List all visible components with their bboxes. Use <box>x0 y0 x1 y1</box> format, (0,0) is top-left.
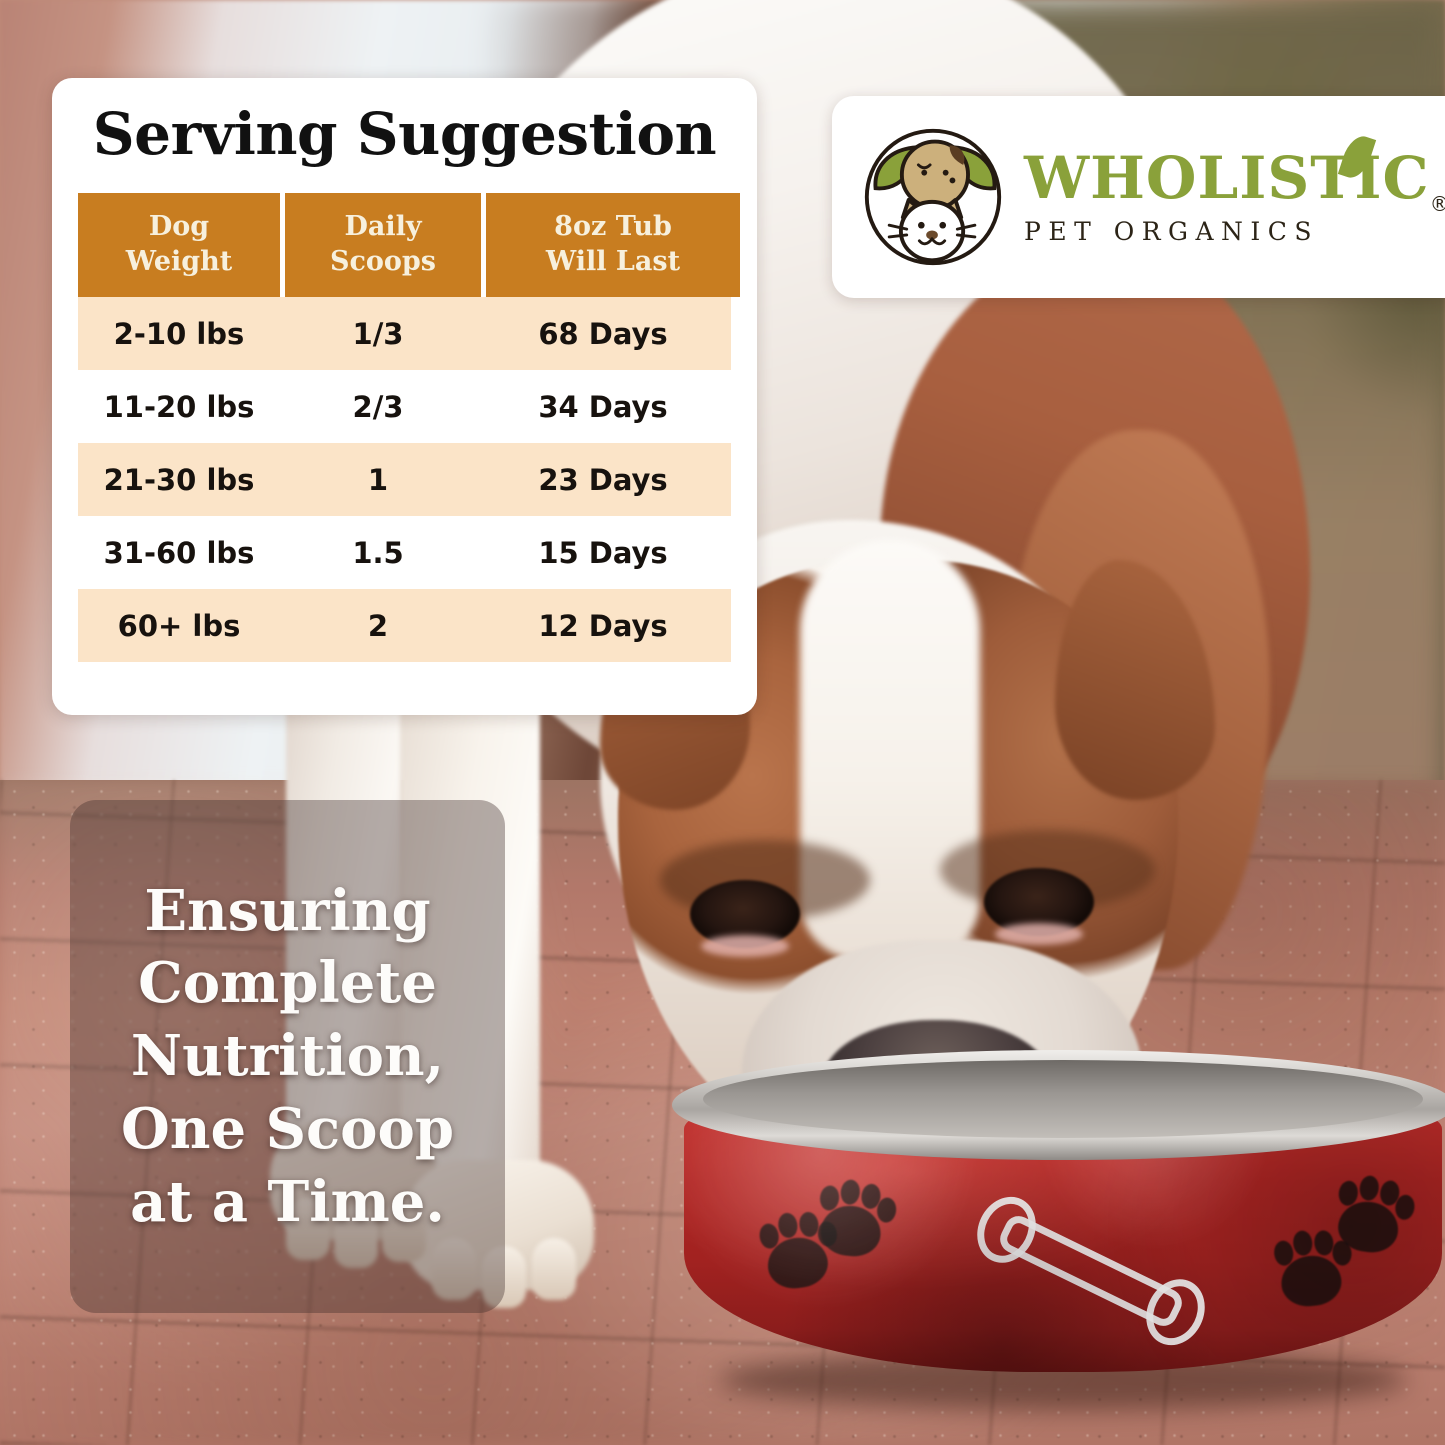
cell-daily-scoops: 1.5 <box>280 536 476 570</box>
tagline-line-1: Ensuring <box>121 875 454 948</box>
brand-logo-card: WHOLISTIC PET ORGANICS ® <box>832 96 1445 298</box>
cell-tub-duration: 68 Days <box>476 317 730 351</box>
cell-daily-scoops: 1/3 <box>280 317 476 351</box>
cell-tub-duration: 15 Days <box>476 536 730 570</box>
column-header-line2: Weight <box>78 244 280 279</box>
bowl-interior <box>703 1060 1422 1138</box>
table-row: 11-20 lbs 2/3 34 Days <box>78 370 731 443</box>
table-row: 2-10 lbs 1/3 68 Days <box>78 297 731 370</box>
table-row: 31-60 lbs 1.5 15 Days <box>78 516 731 589</box>
table-row: 60+ lbs 2 12 Days <box>78 589 731 662</box>
cell-daily-scoops: 2/3 <box>280 390 476 424</box>
dog-toe <box>532 1238 576 1300</box>
cell-dog-weight: 60+ lbs <box>78 609 280 643</box>
cell-tub-duration: 34 Days <box>476 390 730 424</box>
bowl-rim <box>672 1050 1445 1160</box>
paw-print-icon <box>1270 1226 1350 1311</box>
tagline-line-5: at a Time. <box>121 1166 454 1239</box>
cell-dog-weight: 2-10 lbs <box>78 317 280 351</box>
tagline-line-3: Nutrition, <box>121 1020 454 1093</box>
bone-icon <box>995 1211 1186 1330</box>
dog-cat-logo-icon <box>860 124 1006 270</box>
dog-eye-left <box>690 880 800 948</box>
brand-subtitle: PET ORGANICS <box>1024 217 1430 246</box>
serving-suggestion-card: Serving Suggestion Dog Weight Daily Scoo… <box>52 78 757 715</box>
column-header-dog-weight: Dog Weight <box>78 193 280 297</box>
promo-image: Serving Suggestion Dog Weight Daily Scoo… <box>0 0 1445 1445</box>
registered-trademark-icon: ® <box>1430 192 1445 216</box>
column-header-daily-scoops: Daily Scoops <box>285 193 481 297</box>
column-header-line2: Scoops <box>285 244 481 279</box>
brand-wordmark-group: WHOLISTIC PET ORGANICS ® <box>1024 149 1430 246</box>
cell-daily-scoops: 2 <box>280 609 476 643</box>
paw-print-icon <box>812 1176 892 1261</box>
tagline-panel: Ensuring Complete Nutrition, One Scoop a… <box>70 800 505 1313</box>
cell-dog-weight: 11-20 lbs <box>78 390 280 424</box>
cell-dog-weight: 21-30 lbs <box>78 463 280 497</box>
column-header-line1: Daily <box>285 209 481 244</box>
dog-eye-right <box>984 868 1094 936</box>
tagline-line-2: Complete <box>121 947 454 1020</box>
column-header-line1: Dog <box>78 209 280 244</box>
table-row: 21-30 lbs 1 23 Days <box>78 443 731 516</box>
paw-print-icon <box>755 1207 837 1294</box>
column-header-line2: Will Last <box>486 244 740 279</box>
column-header-tub-duration: 8oz Tub Will Last <box>486 193 740 297</box>
dog-bowl <box>672 1050 1445 1400</box>
cell-dog-weight: 31-60 lbs <box>78 536 280 570</box>
serving-table: Dog Weight Daily Scoops 8oz Tub Will Las… <box>78 193 731 662</box>
paw-print-icon <box>1329 1171 1411 1258</box>
card-title: Serving Suggestion <box>52 104 757 165</box>
cell-tub-duration: 12 Days <box>476 609 730 643</box>
cell-daily-scoops: 1 <box>280 463 476 497</box>
table-header-row: Dog Weight Daily Scoops 8oz Tub Will Las… <box>78 193 731 297</box>
tagline-line-4: One Scoop <box>121 1093 454 1166</box>
column-header-line1: 8oz Tub <box>486 209 740 244</box>
tagline-text: Ensuring Complete Nutrition, One Scoop a… <box>107 875 468 1239</box>
cell-tub-duration: 23 Days <box>476 463 730 497</box>
